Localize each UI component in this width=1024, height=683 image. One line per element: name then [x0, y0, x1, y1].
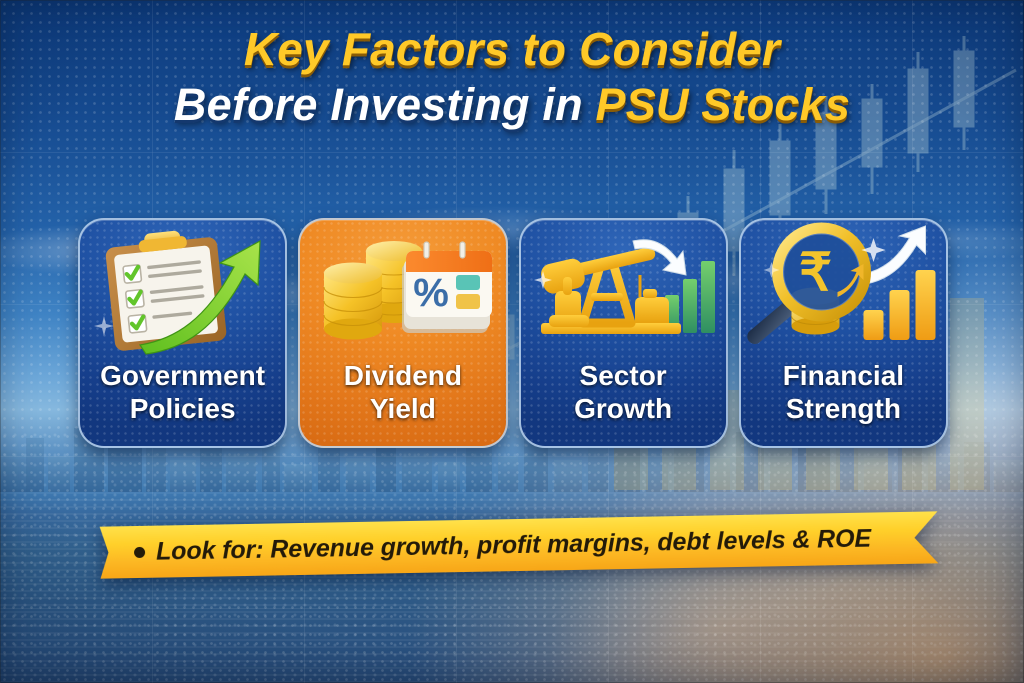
title-line-2-prefix: Before Investing in [174, 79, 583, 130]
infographic-poster: Key Factors to Consider Before Investing… [0, 0, 1024, 683]
card-sector-growth-label: Sector Growth [574, 360, 672, 426]
card-sector-growth[interactable]: Sector Growth [519, 218, 728, 448]
card-financial-strength[interactable]: ₹ Financial Strength [739, 218, 948, 448]
card-label-line-2: Policies [100, 393, 265, 426]
card-label-line-1: Sector [574, 360, 672, 393]
bullet-icon [134, 546, 145, 557]
title-line-1: Key Factors to Consider [0, 26, 1024, 73]
card-dividend-yield[interactable]: % Dividend Yield [298, 218, 507, 448]
title-line-2-highlight: PSU Stocks [595, 79, 850, 130]
card-label-line-1: Financial [783, 360, 904, 393]
clipboard-checklist-growth-arrow-icon [88, 223, 278, 355]
oil-pumpjack-green-bars-icon [527, 223, 719, 355]
card-label-line-1: Dividend [344, 360, 462, 393]
svg-text:%: % [413, 271, 449, 315]
card-government-policies-label: Government Policies [100, 360, 265, 426]
takeaway-banner-label: Look for: Revenue growth, profit margins… [156, 524, 871, 566]
card-financial-strength-label: Financial Strength [783, 360, 904, 426]
poster-title: Key Factors to Consider Before Investing… [0, 26, 1024, 128]
card-label-line-1: Government [100, 360, 265, 393]
card-government-policies-art [80, 220, 285, 358]
card-dividend-yield-art: % [300, 220, 505, 358]
gold-coins-percent-calendar-icon: % [308, 223, 498, 355]
card-dividend-yield-label: Dividend Yield [344, 360, 462, 426]
card-sector-growth-art [521, 220, 726, 358]
card-label-line-2: Yield [344, 393, 462, 426]
card-label-line-2: Growth [574, 393, 672, 426]
magnifier-rupee-coins-bars-icon: ₹ [746, 222, 941, 356]
factor-card-row: Government Policies [78, 218, 948, 448]
card-government-policies[interactable]: Government Policies [78, 218, 287, 448]
card-label-line-2: Strength [783, 393, 904, 426]
svg-text:₹: ₹ [799, 244, 832, 302]
title-line-2: Before Investing in PSU Stocks [0, 82, 1024, 128]
card-financial-strength-art: ₹ [741, 220, 946, 358]
